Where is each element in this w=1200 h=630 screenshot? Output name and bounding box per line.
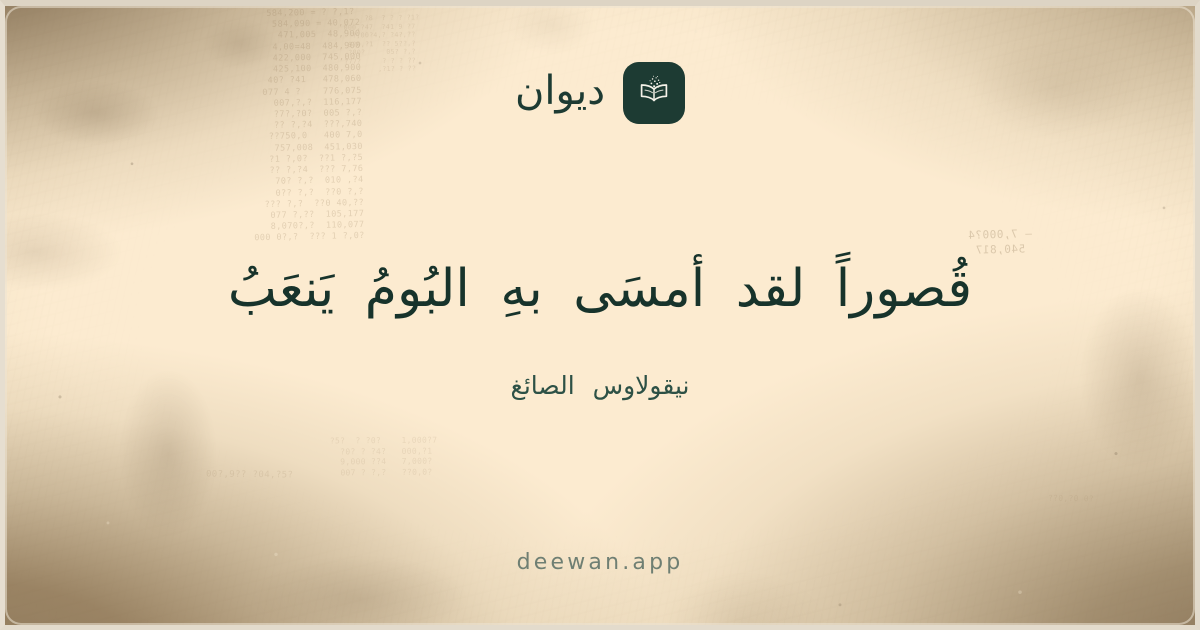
quote-block: قُصوراً لقد أمسَى بهِ البُومُ يَنعَبُ ني… — [0, 98, 1200, 552]
site-url: deewan.app — [517, 552, 684, 574]
quote-verse: قُصوراً لقد أمسَى بهِ البُومُ يَنعَبُ — [228, 252, 972, 327]
card-content: ديوان قُصوراً لقد أمسَى بهِ البُومُ يَنع… — [0, 0, 1200, 630]
quote-author: نيقولاوس الصائغ — [511, 373, 690, 398]
quote-card: ?1,? ? = 584,200 40,072 = 584,090 48,900… — [0, 0, 1200, 630]
card-footer: deewan.app — [517, 552, 684, 574]
